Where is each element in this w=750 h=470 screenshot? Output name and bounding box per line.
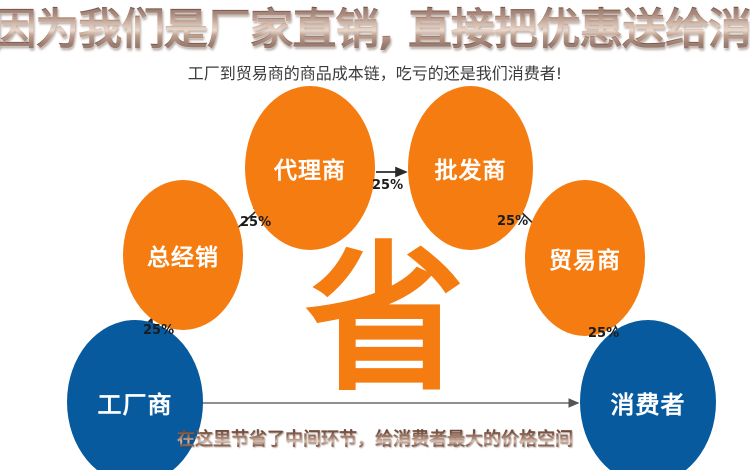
center-save-character: 省: [300, 232, 470, 407]
node-xiaofeizhe-label: 消费者: [611, 385, 686, 420]
percent-label-dailishang-pifashang: 25%: [372, 178, 403, 193]
node-dailishang-label: 代理商: [274, 151, 346, 185]
node-gongchang-label: 工厂商: [98, 385, 173, 420]
node-zongjingxiao-label: 总经销: [147, 238, 219, 272]
percent-label-maoyishang-xiaofeizhe: 25%: [588, 326, 619, 341]
percent-label-zongjingxiao-dailishang: 25%: [240, 215, 271, 230]
bottom-caption: 在这里节省了中间环节，给消费者最大的价格空间: [0, 428, 750, 452]
infographic-page: 因为我们是厂家直销, 直接把优惠送给消费者 工厂到贸易商的商品成本链，吃亏的还是…: [0, 0, 750, 470]
percent-label-pifashang-maoyishang: 25%: [497, 214, 528, 229]
node-maoyishang[interactable]: 贸易商: [525, 180, 645, 336]
node-pifashang-label: 批发商: [435, 151, 507, 185]
node-maoyishang-label: 贸易商: [549, 241, 621, 275]
node-zongjingxiao[interactable]: 总经销: [123, 180, 243, 330]
percent-label-gongchang-zongjingxiao: 25%: [143, 323, 174, 338]
